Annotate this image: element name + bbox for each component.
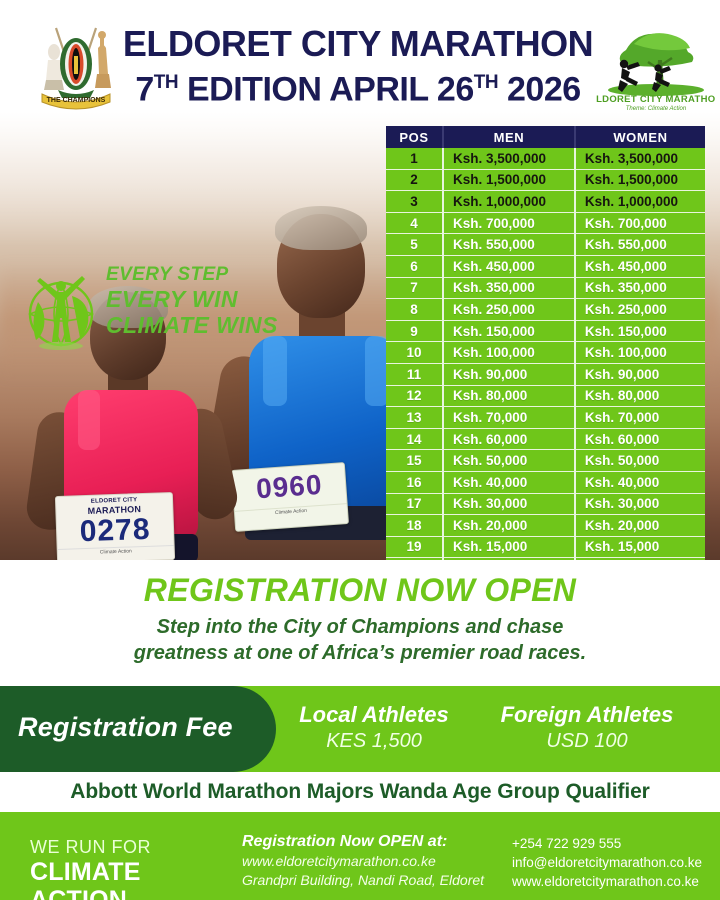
cell-women: Ksh. 30,000 (576, 494, 705, 516)
cell-men: Ksh. 60,000 (444, 429, 576, 451)
prize-table-header: POS MEN WOMEN (386, 126, 705, 148)
registration-fee-label: Registration Fee (18, 712, 266, 743)
cell-pos: 4 (386, 213, 444, 235)
table-row: 3Ksh. 1,000,000Ksh. 1,000,000 (386, 191, 705, 213)
cell-pos: 17 (386, 494, 444, 516)
cell-pos: 15 (386, 450, 444, 472)
tagline-text: EVERY STEP EVERY WIN CLIMATE WINS (106, 264, 278, 338)
cell-pos: 11 (386, 364, 444, 386)
cell-women: Ksh. 450,000 (576, 256, 705, 278)
cell-women: Ksh. 90,000 (576, 364, 705, 386)
cell-women: Ksh. 550,000 (576, 234, 705, 256)
table-row: 6Ksh. 450,000Ksh. 450,000 (386, 256, 705, 278)
logo-name-text: ELDORET CITY MARATHON (596, 94, 716, 105)
contact-phone[interactable]: +254 722 929 555 (512, 834, 718, 853)
cell-men: Ksh. 450,000 (444, 256, 576, 278)
registration-website-link[interactable]: www.eldoretcitymarathon.co.ke (242, 852, 504, 871)
race-bib-left-number: 0278 (57, 513, 174, 549)
edition-number: 7 (135, 70, 153, 108)
cell-men: Ksh. 250,000 (444, 299, 576, 321)
event-edition-title: 7TH EDITION APRIL 26TH 2026 (122, 64, 594, 108)
cell-men: Ksh. 50,000 (444, 450, 576, 472)
registration-open-section: REGISTRATION NOW OPEN Step into the City… (0, 560, 720, 688)
registration-location-block: Registration Now OPEN at: www.eldoretcit… (242, 832, 504, 890)
qualifier-strip: Abbott World Marathon Majors Wanda Age G… (0, 772, 720, 812)
cell-women: Ksh. 70,000 (576, 407, 705, 429)
cell-women: Ksh. 3,500,000 (576, 148, 705, 170)
marathon-poster: THE CHAMPIONS ELDORET CITY MARATHON 7TH … (0, 0, 720, 900)
registration-fee-band: Registration Fee Local Athletes KES 1,50… (0, 686, 720, 772)
date-ordinal: TH (474, 72, 498, 93)
cell-men: Ksh. 1,500,000 (444, 170, 576, 192)
tagline-line-1: EVERY STEP (106, 264, 278, 286)
cell-pos: 14 (386, 429, 444, 451)
prize-money-table: POS MEN WOMEN 1Ksh. 3,500,000Ksh. 3,500,… (386, 126, 705, 600)
table-row: 13Ksh. 70,000Ksh. 70,000 (386, 407, 705, 429)
we-run-for-label: WE RUN FOR (30, 836, 240, 858)
cell-women: Ksh. 40,000 (576, 472, 705, 494)
table-row: 10Ksh. 100,000Ksh. 100,000 (386, 342, 705, 364)
cell-women: Ksh. 60,000 (576, 429, 705, 451)
table-row: 12Ksh. 80,000Ksh. 80,000 (386, 386, 705, 408)
column-header-men: MEN (444, 126, 576, 148)
cell-pos: 3 (386, 191, 444, 213)
local-athletes-value: KES 1,500 (274, 728, 474, 754)
column-header-pos: POS (386, 126, 444, 148)
table-row: 17Ksh. 30,000Ksh. 30,000 (386, 494, 705, 516)
table-row: 7Ksh. 350,000Ksh. 350,000 (386, 278, 705, 300)
cell-men: Ksh. 20,000 (444, 515, 576, 537)
registration-address: Grandpri Building, Nandi Road, Eldoret (242, 871, 504, 890)
cell-women: Ksh. 1,000,000 (576, 191, 705, 213)
cell-men: Ksh. 700,000 (444, 213, 576, 235)
cell-men: Ksh. 1,000,000 (444, 191, 576, 213)
prize-table-body: 1Ksh. 3,500,000Ksh. 3,500,0002Ksh. 1,500… (386, 148, 705, 580)
runner-pink-strap (78, 390, 100, 450)
foreign-athletes-value: USD 100 (470, 728, 704, 754)
table-header-row: POS MEN WOMEN (386, 126, 705, 148)
registration-subtext: Step into the City of Champions and chas… (0, 614, 720, 666)
cell-pos: 13 (386, 407, 444, 429)
registration-headline: REGISTRATION NOW OPEN (0, 560, 720, 608)
cell-men: Ksh. 550,000 (444, 234, 576, 256)
crest-motto-text: THE CHAMPIONS (47, 97, 106, 104)
tagline-line-3: CLIMATE WINS (106, 312, 278, 338)
runner-blue-hair (275, 206, 367, 250)
page-title: ELDORET CITY MARATHON (122, 24, 594, 64)
cell-pos: 2 (386, 170, 444, 192)
cell-women: Ksh. 150,000 (576, 321, 705, 343)
event-year: 2026 (498, 70, 581, 108)
foreign-athletes-fee: Foreign Athletes USD 100 (470, 702, 704, 754)
cell-pos: 8 (386, 299, 444, 321)
race-bib-left: ELDORET CITYMARATHON 0278 Climate Action (55, 492, 175, 560)
cell-pos: 5 (386, 234, 444, 256)
cell-pos: 12 (386, 386, 444, 408)
cell-women: Ksh. 15,000 (576, 537, 705, 559)
cell-men: Ksh. 80,000 (444, 386, 576, 408)
cell-pos: 18 (386, 515, 444, 537)
table-row: 15Ksh. 50,000Ksh. 50,000 (386, 450, 705, 472)
contact-website[interactable]: www.eldoretcitymarathon.co.ke (512, 872, 718, 891)
table-row: 19Ksh. 15,000Ksh. 15,000 (386, 537, 705, 559)
cell-men: Ksh. 3,500,000 (444, 148, 576, 170)
cell-pos: 7 (386, 278, 444, 300)
table-row: 4Ksh. 700,000Ksh. 700,000 (386, 213, 705, 235)
acacia-tree-runners-logo-icon: ELDORET CITY MARATHON Theme: Climate Act… (596, 20, 716, 114)
foreign-athletes-title: Foreign Athletes (470, 702, 704, 728)
edition-middle: EDITION APRIL 26 (178, 70, 474, 108)
cell-men: Ksh. 30,000 (444, 494, 576, 516)
cell-pos: 6 (386, 256, 444, 278)
table-row: 9Ksh. 150,000Ksh. 150,000 (386, 321, 705, 343)
cell-women: Ksh. 50,000 (576, 450, 705, 472)
cell-women: Ksh. 250,000 (576, 299, 705, 321)
climate-action-label: CLIMATE ACTION (30, 858, 240, 900)
cell-men: Ksh. 15,000 (444, 537, 576, 559)
event-title-block: ELDORET CITY MARATHON 7TH EDITION APRIL … (122, 24, 594, 108)
poster-footer: WE RUN FOR CLIMATE ACTION Registration N… (0, 812, 720, 900)
contact-block: +254 722 929 555 info@eldoretcitymaratho… (512, 834, 718, 891)
cell-women: Ksh. 700,000 (576, 213, 705, 235)
cell-pos: 9 (386, 321, 444, 343)
cell-women: Ksh. 350,000 (576, 278, 705, 300)
runner-globe-icon (24, 262, 98, 352)
climate-action-slogan: WE RUN FOR CLIMATE ACTION (30, 836, 240, 900)
table-row: 14Ksh. 60,000Ksh. 60,000 (386, 429, 705, 451)
local-athletes-fee: Local Athletes KES 1,500 (274, 702, 474, 754)
registration-subtext-line2: greatness at one of Africa’s premier roa… (134, 642, 586, 664)
campaign-tagline: EVERY STEP EVERY WIN CLIMATE WINS (24, 260, 292, 356)
edition-ordinal: TH (154, 72, 178, 93)
cell-men: Ksh. 350,000 (444, 278, 576, 300)
cell-women: Ksh. 100,000 (576, 342, 705, 364)
table-row: 8Ksh. 250,000Ksh. 250,000 (386, 299, 705, 321)
cell-women: Ksh. 80,000 (576, 386, 705, 408)
cell-pos: 10 (386, 342, 444, 364)
registration-subtext-line1: Step into the City of Champions and chas… (157, 616, 564, 638)
table-row: 18Ksh. 20,000Ksh. 20,000 (386, 515, 705, 537)
cell-men: Ksh. 90,000 (444, 364, 576, 386)
table-row: 2Ksh. 1,500,000Ksh. 1,500,000 (386, 170, 705, 192)
cell-pos: 1 (386, 148, 444, 170)
kenya-coat-of-arms-icon: THE CHAMPIONS (28, 18, 124, 110)
table-row: 5Ksh. 550,000Ksh. 550,000 (386, 234, 705, 256)
cell-men: Ksh. 40,000 (444, 472, 576, 494)
cell-men: Ksh. 150,000 (444, 321, 576, 343)
table-row: 11Ksh. 90,000Ksh. 90,000 (386, 364, 705, 386)
cell-men: Ksh. 70,000 (444, 407, 576, 429)
cell-women: Ksh. 20,000 (576, 515, 705, 537)
local-athletes-title: Local Athletes (274, 702, 474, 728)
table-row: 1Ksh. 3,500,000Ksh. 3,500,000 (386, 148, 705, 170)
table-row: 16Ksh. 40,000Ksh. 40,000 (386, 472, 705, 494)
cell-pos: 19 (386, 537, 444, 559)
contact-email[interactable]: info@eldoretcitymarathon.co.ke (512, 853, 718, 872)
poster-header: THE CHAMPIONS ELDORET CITY MARATHON 7TH … (0, 0, 720, 118)
tagline-line-2: EVERY WIN (106, 286, 278, 312)
registration-open-at-label: Registration Now OPEN at: (242, 832, 504, 852)
cell-women: Ksh. 1,500,000 (576, 170, 705, 192)
cell-pos: 16 (386, 472, 444, 494)
cell-men: Ksh. 100,000 (444, 342, 576, 364)
column-header-women: WOMEN (576, 126, 705, 148)
